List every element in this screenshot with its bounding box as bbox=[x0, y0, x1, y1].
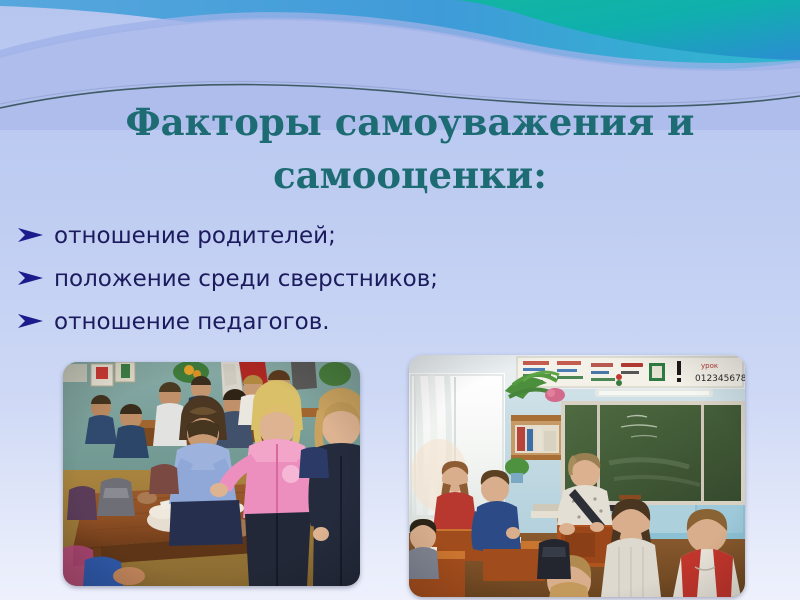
list-item-label: отношение педагогов. bbox=[54, 308, 330, 336]
arrowhead-bullet-icon bbox=[16, 222, 54, 245]
presentation-slide: Факторы самоуважения и самооценки: отнош… bbox=[0, 0, 800, 600]
classroom-lesson-photo: 0123456789 10 урок bbox=[409, 355, 745, 597]
arrowhead-bullet-icon bbox=[16, 308, 54, 331]
list-item: положение среди сверстников; bbox=[16, 265, 776, 295]
list-item: отношение родителей; bbox=[16, 222, 776, 252]
arrowhead-bullet-icon bbox=[16, 265, 54, 288]
slide-title-block: Факторы самоуважения и самооценки: bbox=[60, 96, 760, 201]
list-item: отношение педагогов. bbox=[16, 308, 776, 338]
list-item-label: отношение родителей; bbox=[54, 222, 336, 250]
list-item-label: положение среди сверстников; bbox=[54, 265, 438, 293]
classroom-craft-photo bbox=[63, 362, 360, 586]
bullet-list: отношение родителей; положение среди све… bbox=[16, 222, 776, 351]
page-title: Факторы самоуважения и самооценки: bbox=[60, 96, 760, 201]
